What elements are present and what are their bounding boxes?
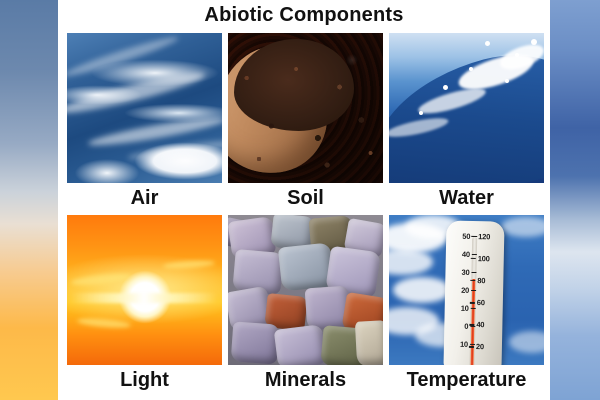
celsius-tick: 10 bbox=[448, 340, 468, 348]
celsius-tick: 50 bbox=[450, 232, 470, 240]
component-label-soil: Soil bbox=[287, 183, 324, 213]
temperature-image: 50 40 30 20 10 0 10 120 100 80 60 bbox=[389, 215, 544, 365]
celsius-tick: 10 bbox=[449, 304, 469, 312]
celsius-tick: 0 bbox=[448, 322, 468, 330]
thermometer-icon: 50 40 30 20 10 0 10 120 100 80 60 bbox=[443, 220, 504, 365]
left-decorative-gradient-band bbox=[0, 0, 58, 400]
component-cell-minerals: Minerals bbox=[228, 215, 383, 395]
content-card: Abiotic Components Air Soil bbox=[58, 0, 550, 400]
right-decorative-gradient-band bbox=[550, 0, 600, 400]
fahrenheit-tick: 20 bbox=[476, 344, 498, 352]
component-cell-soil: Soil bbox=[228, 33, 383, 213]
light-image bbox=[67, 215, 222, 365]
component-label-air: Air bbox=[131, 183, 159, 213]
celsius-tick: 30 bbox=[449, 268, 469, 276]
page-title: Abiotic Components bbox=[58, 2, 550, 30]
fahrenheit-tick: 100 bbox=[478, 255, 500, 263]
component-label-water: Water bbox=[439, 183, 494, 213]
components-grid: Air Soil bbox=[67, 33, 541, 395]
fahrenheit-tick: 120 bbox=[478, 233, 500, 241]
infographic-frame: Abiotic Components Air Soil bbox=[0, 0, 600, 400]
air-image bbox=[67, 33, 222, 183]
component-label-temperature: Temperature bbox=[407, 365, 527, 395]
component-cell-temperature: 50 40 30 20 10 0 10 120 100 80 60 bbox=[389, 215, 544, 395]
water-image bbox=[389, 33, 544, 183]
component-cell-water: Water bbox=[389, 33, 544, 213]
component-cell-air: Air bbox=[67, 33, 222, 213]
celsius-tick: 20 bbox=[449, 286, 469, 294]
thermometer-fahrenheit-scale: 120 100 80 60 40 20 bbox=[476, 233, 501, 365]
soil-image bbox=[228, 33, 383, 183]
component-label-minerals: Minerals bbox=[265, 365, 346, 395]
fahrenheit-tick: 60 bbox=[477, 299, 499, 307]
component-cell-light: Light bbox=[67, 215, 222, 395]
component-label-light: Light bbox=[120, 365, 169, 395]
fahrenheit-tick: 80 bbox=[477, 277, 499, 285]
minerals-image bbox=[228, 215, 383, 365]
thermometer-celsius-scale: 50 40 30 20 10 0 10 bbox=[448, 232, 471, 358]
fahrenheit-tick: 40 bbox=[476, 321, 498, 329]
celsius-tick: 40 bbox=[450, 250, 470, 258]
